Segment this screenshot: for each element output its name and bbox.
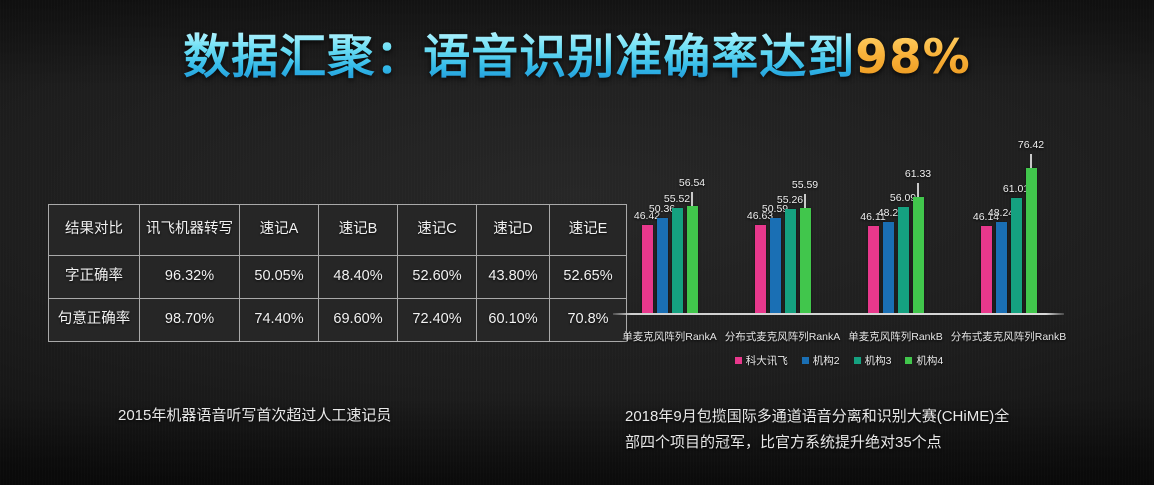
caption-left: 2015年机器语音听写首次超过人工速记员 — [118, 404, 391, 425]
bar-机构4[interactable] — [800, 208, 811, 314]
bar-科大讯飞[interactable] — [755, 225, 766, 314]
legend-item[interactable]: 机构3 — [854, 353, 892, 368]
chart-x-axis — [613, 313, 1064, 315]
bar-机构2[interactable] — [996, 222, 1007, 314]
bar-slot: 48.24 — [996, 222, 1007, 314]
caption-right-line2: 部四个项目的冠军，比官方系统提升绝对35个点 — [625, 430, 1125, 456]
results-table: 结果对比讯飞机器转写速记A速记B速记C速记D速记E字正确率96.32%50.05… — [48, 204, 627, 342]
bar-机构3[interactable] — [672, 208, 683, 314]
legend-swatch-icon — [802, 357, 809, 364]
bar-slot: 56.54 — [687, 206, 698, 314]
bar-group: 46.1148.256.0961.33 — [868, 150, 924, 314]
legend-swatch-icon — [905, 357, 912, 364]
table-cell: 43.80% — [477, 256, 550, 299]
page-title-main: 数据汇聚：语音识别准确率达到 — [183, 30, 855, 85]
bar-slot: 46.11 — [868, 226, 879, 314]
legend-label: 机构3 — [865, 353, 892, 368]
legend-item[interactable]: 机构4 — [905, 353, 943, 368]
table-row-label: 字正确率 — [49, 256, 140, 299]
legend-label: 机构4 — [916, 353, 943, 368]
error-bar — [917, 183, 919, 197]
bar-slot: 55.59 — [800, 208, 811, 314]
bar-value-label: 55.26 — [777, 194, 803, 206]
page-title-accent: 98% — [855, 30, 971, 85]
x-axis-category-label: 单麦克风阵列RankB — [848, 329, 943, 344]
bar-value-label: 48.2 — [878, 207, 898, 219]
legend-item[interactable]: 科大讯飞 — [735, 353, 788, 368]
table-cell: 98.70% — [140, 299, 240, 342]
x-axis-category-label: 分布式麦克风阵列RankB — [951, 329, 1067, 344]
table-header-row: 结果对比讯飞机器转写速记A速记B速记C速记D速记E — [49, 205, 627, 256]
bar-slot: 55.52 — [672, 208, 683, 314]
comparison-table: 结果对比讯飞机器转写速记A速记B速记C速记D速记E字正确率96.32%50.05… — [48, 204, 627, 342]
table-header-cell: 讯飞机器转写 — [140, 205, 240, 256]
x-axis-category-label: 单麦克风阵列RankA — [622, 329, 717, 344]
bar-slot: 55.26 — [785, 209, 796, 314]
bar-slot: 46.63 — [755, 225, 766, 314]
chart-legend: 科大讯飞机构2机构3机构4 — [604, 353, 1074, 368]
legend-item[interactable]: 机构2 — [802, 353, 840, 368]
table-header-cell: 速记B — [319, 205, 398, 256]
table-cell: 50.05% — [240, 256, 319, 299]
error-bar — [691, 192, 693, 206]
bar-group: 46.6350.5955.2655.59 — [755, 150, 811, 314]
table-row: 句意正确率98.70%74.40%69.60%72.40%60.10%70.8% — [49, 299, 627, 342]
table-cell: 96.32% — [140, 256, 240, 299]
table-cell: 60.10% — [477, 299, 550, 342]
page-title: 数据汇聚：语音识别准确率达到98% — [0, 18, 1154, 87]
bar-value-label: 55.52 — [664, 193, 690, 205]
table-header-cell: 速记D — [477, 205, 550, 256]
legend-label: 科大讯飞 — [746, 353, 788, 368]
slide-canvas: 数据汇聚：语音识别准确率达到98% 结果对比讯飞机器转写速记A速记B速记C速记D… — [0, 0, 1154, 485]
bar-机构4[interactable] — [913, 197, 924, 314]
bar-机构3[interactable] — [1011, 198, 1022, 314]
caption-right-line1: 2018年9月包揽国际多通道语音分离和识别大赛(CHiME)全 — [625, 404, 1125, 430]
bar-机构2[interactable] — [657, 218, 668, 314]
legend-label: 机构2 — [813, 353, 840, 368]
bar-slot: 61.33 — [913, 197, 924, 314]
bar-slot: 56.09 — [898, 207, 909, 314]
bar-slot: 46.42 — [642, 225, 653, 314]
error-bar — [1030, 154, 1032, 168]
table-row: 字正确率96.32%50.05%48.40%52.60%43.80%52.65% — [49, 256, 627, 299]
bar-科大讯飞[interactable] — [981, 226, 992, 314]
bar-slot: 61.01 — [1011, 198, 1022, 314]
bar-slot: 48.2 — [883, 222, 894, 314]
bar-value-label: 76.42 — [1018, 139, 1044, 151]
table-cell: 72.40% — [398, 299, 477, 342]
bar-机构3[interactable] — [898, 207, 909, 314]
error-bar — [804, 194, 806, 208]
bar-机构2[interactable] — [770, 218, 781, 314]
legend-swatch-icon — [854, 357, 861, 364]
bar-value-label: 61.33 — [905, 168, 931, 180]
table-header-cell: 速记C — [398, 205, 477, 256]
bar-机构4[interactable] — [1026, 168, 1037, 314]
chart-plot-area: 46.4250.3655.5256.5446.6350.5955.2655.59… — [613, 150, 1065, 314]
bar-group: 46.4250.3655.5256.54 — [642, 150, 698, 314]
x-axis-category-label: 分布式麦克风阵列RankA — [725, 329, 841, 344]
bar-slot: 50.59 — [770, 218, 781, 314]
table-cell: 48.40% — [319, 256, 398, 299]
bar-机构4[interactable] — [687, 206, 698, 314]
bar-value-label: 55.59 — [792, 179, 818, 191]
accuracy-bar-chart: 46.4250.3655.5256.5446.6350.5955.2655.59… — [604, 150, 1074, 360]
table-row-label: 句意正确率 — [49, 299, 140, 342]
table-cell: 69.60% — [319, 299, 398, 342]
bar-slot: 46.14 — [981, 226, 992, 314]
caption-right: 2018年9月包揽国际多通道语音分离和识别大赛(CHiME)全 部四个项目的冠军… — [625, 404, 1125, 457]
bar-group: 46.1448.2461.0176.42 — [981, 150, 1037, 314]
table-cell: 74.40% — [240, 299, 319, 342]
bar-value-label: 56.54 — [679, 177, 705, 189]
bar-机构3[interactable] — [785, 209, 796, 314]
bar-slot: 76.42 — [1026, 168, 1037, 314]
bar-slot: 50.36 — [657, 218, 668, 314]
bar-科大讯飞[interactable] — [868, 226, 879, 314]
table-cell: 52.60% — [398, 256, 477, 299]
table-header-cell: 结果对比 — [49, 205, 140, 256]
legend-swatch-icon — [735, 357, 742, 364]
bar-机构2[interactable] — [883, 222, 894, 314]
table-header-cell: 速记A — [240, 205, 319, 256]
bar-科大讯飞[interactable] — [642, 225, 653, 314]
